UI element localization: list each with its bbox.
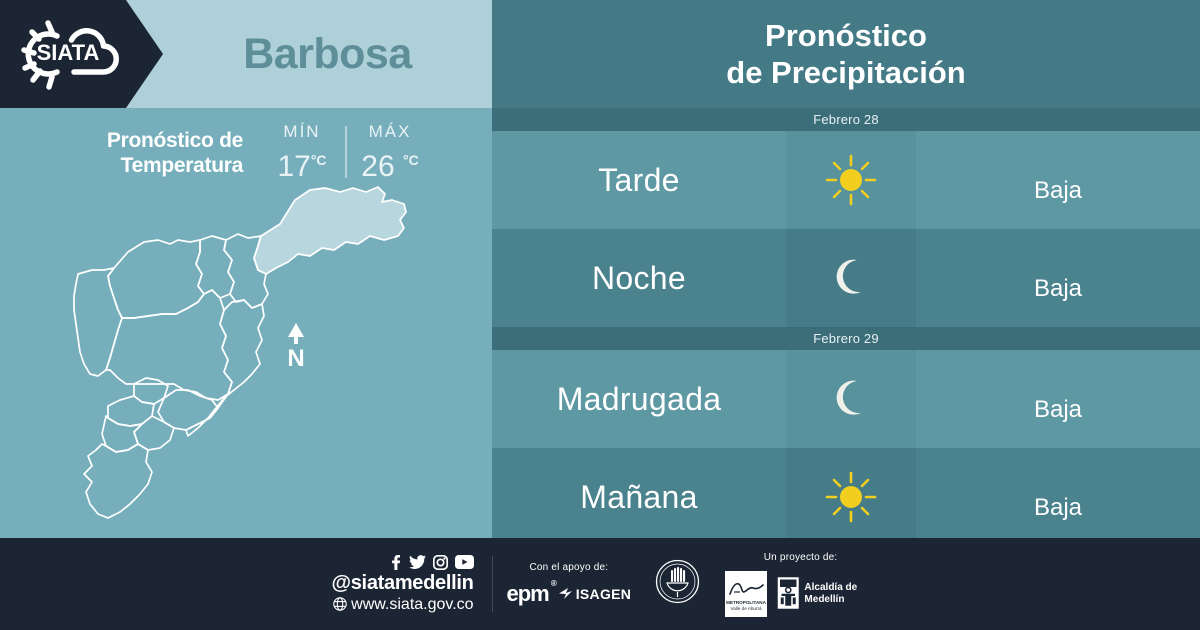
globe-icon [333,597,347,611]
instagram-icon[interactable] [433,555,448,570]
forecast-title: Pronóstico de Precipitación [492,0,1200,108]
isagen-mark-icon [559,587,574,600]
social-icons [330,555,474,570]
date-band-0: Febrero 28 [492,108,1200,131]
facebook-icon[interactable] [389,555,402,570]
youtube-icon[interactable] [455,555,474,569]
table-row[interactable]: Noche Baja [492,229,1200,327]
alcaldia-label: Alcaldía de Medellín [804,582,876,606]
footer: @siatamedellin www.siata.gov.co Con el a… [0,538,1200,630]
probability-value: Baja [916,448,1200,546]
compass-label: N [287,345,304,372]
forecast-title-line1: Pronóstico [765,17,927,54]
social-handle[interactable]: @siatamedellin [330,572,474,595]
epm-logo: epm ® [506,581,548,607]
forecast-table: Febrero 28 Tarde Baja [492,108,1200,538]
temperature-title-line1: Pronóstico de [107,129,243,152]
aburra-valley-map[interactable]: N [48,178,448,530]
period-label: Tarde [492,131,786,229]
temperature-min-unit: °C [311,152,327,168]
map-area: Pronóstico de Temperatura MÍN 17°C MÁX 2… [0,108,492,538]
map-svg: N [48,178,448,530]
moon-icon [786,350,916,448]
compass-north: N [287,323,304,372]
probability-value: Baja [916,131,1200,229]
temperature-max-unit: °C [403,152,419,168]
temperature-panel: SIATA Barbosa Pronóstico de Temperatura … [0,0,492,538]
date-band-1: Febrero 29 [492,327,1200,350]
social-block: @siatamedellin www.siata.gov.co [330,555,492,614]
temperature-max-label: MÁX [347,122,433,143]
siata-logo-text: SIATA [37,40,100,65]
probability-value: Baja [916,350,1200,448]
sun-icon [786,448,916,546]
universidad-de-medellin-seal [645,559,710,609]
twitter-icon[interactable] [409,555,426,570]
sun-icon [786,131,916,229]
area-metropolitana-logo: METROPOLITANAValle de Aburrá [725,571,767,617]
probability-value: Baja [916,229,1200,327]
siata-logo-banner: SIATA [0,0,163,108]
precipitation-panel: Pronóstico de Precipitación Febrero 28 T… [492,0,1200,538]
sun-cloud-icon: SIATA [12,14,128,94]
table-row[interactable]: Mañana Baja [492,448,1200,546]
website-url: www.siata.gov.co [351,595,473,614]
period-label: Madrugada [492,350,786,448]
alcaldia-de-medellin-crest [777,571,799,615]
support-caption: Con el apoyo de: [506,562,631,573]
temperature-min-label: MÍN [259,122,345,143]
city-header: SIATA Barbosa [0,0,492,108]
temperature-min: MÍN 17°C [259,122,345,184]
support-block: Con el apoyo de: epm ® ISAGEN [492,562,645,607]
epm-logo-text: epm [506,581,548,606]
moon-icon [786,229,916,327]
forecast-title-line2: de Precipitación [726,54,965,91]
period-label: Mañana [492,448,786,546]
map-region-barbosa [254,187,406,274]
website-line[interactable]: www.siata.gov.co [330,595,474,614]
temperature-max: MÁX 26 °C [347,122,433,184]
isagen-logo-text: ISAGEN [576,586,631,602]
temperature-title: Pronóstico de Temperatura [50,122,243,178]
table-row[interactable]: Tarde Baja [492,131,1200,229]
isagen-logo: ISAGEN [559,586,631,602]
project-caption: Un proyecto de: [725,552,876,563]
project-block: Un proyecto de: METROPOLITANAValle de Ab… [711,552,890,617]
period-label: Noche [492,229,786,327]
temperature-title-line2: Temperatura [121,154,243,177]
alcaldia-de-medellin-crest-wrap: Alcaldía de Medellín [777,571,876,615]
infographic-root: SIATA Barbosa Pronóstico de Temperatura … [0,0,1200,630]
city-name: Barbosa [163,0,492,108]
table-row[interactable]: Madrugada Baja [492,350,1200,448]
